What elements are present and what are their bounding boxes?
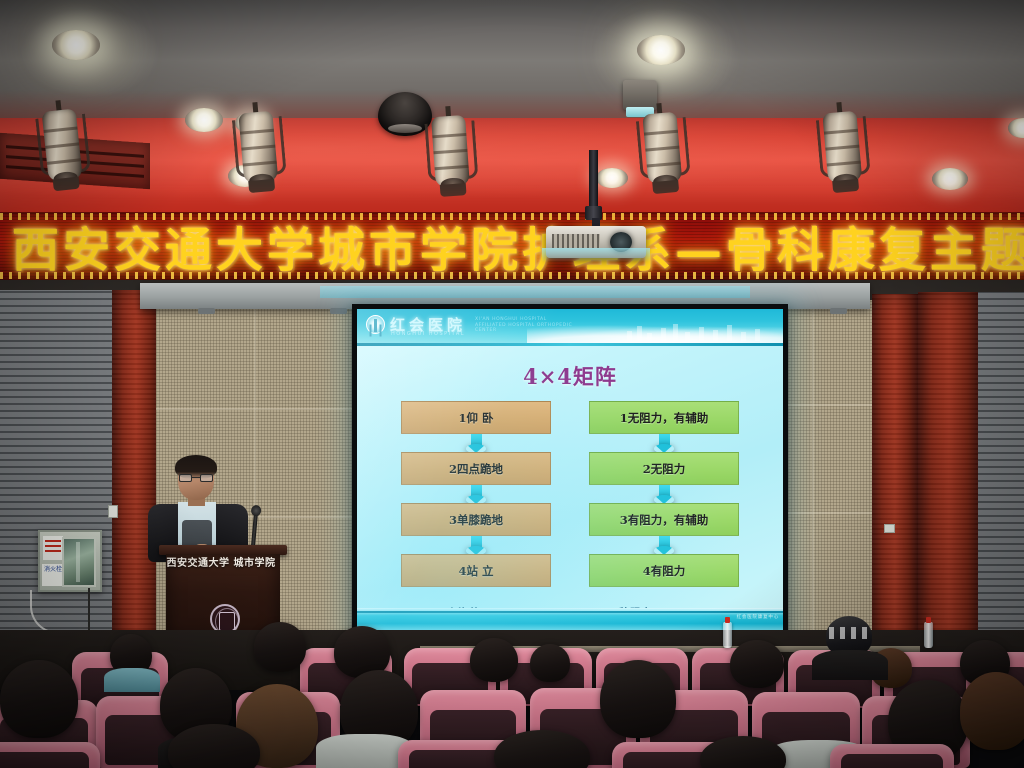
matrix-box: 3有阻力，有辅助 [589,503,739,536]
arrow-down-icon [401,485,551,503]
matrix-box: 1仰 卧 [401,401,551,434]
slide-header-band: 红会医院 HONGHUI HOSPITAL XI'AN HONGHUI HOSP… [357,309,783,343]
matrix-diagram: 1仰 卧 2四点跪地 3单膝跪地 4站 立 1无阻力，有辅助 2无阻力 3有阻力… [357,401,783,601]
stage-spotlight-3 [427,115,477,204]
audience-shoulders [104,668,160,692]
matrix-box: 2四点跪地 [401,452,551,485]
hospital-logo-icon [366,315,385,334]
soffit-light-strip [320,286,750,298]
slide-footer-tag: 红会医院康复中心 [737,614,779,620]
wall-cable [30,590,90,634]
audience-head [730,640,784,688]
stage-spotlight-5 [818,110,869,200]
led-dot-strip-bottom [0,272,1024,279]
matrix-box: 1无阻力，有辅助 [589,401,739,434]
arrow-down-icon [589,434,739,452]
audience-head [960,672,1024,750]
seat[interactable] [0,742,100,768]
lecture-hall-photo: 西安交通大学城市学院护理系—骨科康复主题 消火栓 [0,0,1024,768]
matrix-column-resistance: 1无阻力，有辅助 2无阻力 3有阻力，有辅助 4有阻力 [589,401,739,601]
audience-head [254,622,306,672]
fire-cabinet-glass-door[interactable] [62,537,96,587]
hospital-name-pinyin: HONGHUI HOSPITAL [391,331,465,337]
hospital-name-english: XI'AN HONGHUI HOSPITAL AFFILIATED HOSPIT… [475,317,575,334]
fire-cabinet-placard [43,536,63,560]
ceiling-projector [546,218,646,264]
audience-head [600,660,676,738]
ceiling-downlight-4 [637,35,685,65]
stage-spotlight-2 [234,110,285,200]
matrix-column-postures: 1仰 卧 2四点跪地 3单膝跪地 4站 立 [401,401,551,601]
slide-canvas: 红会医院 HONGHUI HOSPITAL XI'AN HONGHUI HOSP… [357,309,783,634]
water-bottle[interactable] [723,622,732,648]
seat[interactable] [830,744,954,768]
wall-column-wood-right-1 [872,294,918,650]
audience-head [470,638,518,682]
podium-institution-name: 西安交通大学 城市学院 [164,554,278,569]
wall-switch-plate[interactable] [108,505,118,518]
glasses-icon [179,474,213,482]
stage-spotlight-4 [638,111,689,201]
ceiling-downlight-1 [52,30,100,60]
matrix-box: 4站 立 [401,554,551,587]
audience-head [530,644,570,682]
ceiling-red-cove [0,118,1024,218]
arrow-down-icon [401,536,551,554]
led-banner: 西安交通大学城市学院护理系—骨科康复主题 [0,212,1024,280]
stage-spotlight-1 [38,108,91,198]
ceiling [0,0,1024,132]
matrix-box: 4有阻力 [589,554,739,587]
arrow-down-icon [401,434,551,452]
audience-head [0,660,78,738]
water-bottle[interactable] [924,622,933,648]
slide-title: 4×4矩阵 [357,361,783,391]
matrix-box: 3单膝跪地 [401,503,551,536]
wall-column-wood-right-2 [918,292,980,650]
matrix-box: 2无阻力 [589,452,739,485]
wall-panel-ribbed-right [978,292,1024,650]
ceiling-downlight-2 [185,108,223,132]
wall-panel-beige-right [782,300,874,650]
ceiling-downlight-6 [932,168,968,190]
beanie-logo-text [829,627,869,639]
wall-outlet-plate-right[interactable] [884,524,895,533]
audience-shoulders [812,650,888,680]
speaker-person [150,458,246,558]
ceiling-downlight-5 [596,168,628,188]
arrow-down-icon [589,485,739,503]
projector-mount-pole [589,150,598,212]
projector-vents [552,234,600,248]
slide-header-underline [357,343,783,346]
projection-screen: 红会医院 HONGHUI HOSPITAL XI'AN HONGHUI HOSP… [352,304,788,639]
led-banner-text: 西安交通大学城市学院护理系—骨科康复主题 [12,212,1024,280]
fire-cabinet-label: 消火栓 [42,564,64,586]
arrow-down-icon [589,536,739,554]
ceiling-sensor-box [623,80,657,110]
fire-hose-cabinet[interactable]: 消火栓 [38,530,102,592]
